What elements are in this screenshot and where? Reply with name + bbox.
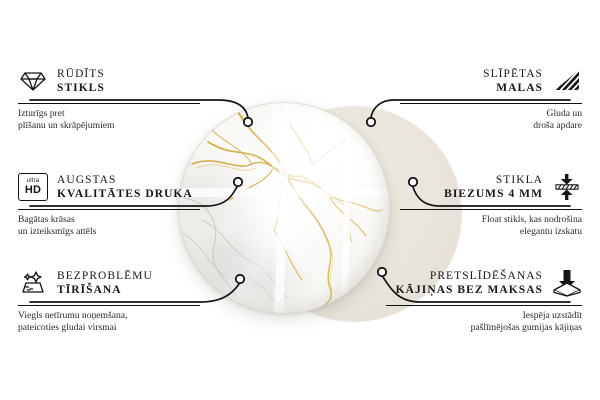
feature-titles: BEZPROBLĒMU TĪRĪŠANA (57, 269, 153, 297)
feature-header: ultra HD AUGSTAS KVALITĀTES DRUKA (18, 168, 200, 206)
feature-description: Bagātas krāsas un izteiksmīgs attēls (18, 214, 200, 239)
feature-callout-glass-thickness: STIKLA BIEZUMS 4 MM Float stikls, kas no… (400, 168, 582, 239)
feature-description: Izturīgs pret plīšanu un skrāpējumiem (18, 108, 200, 133)
feature-title-line1: SLĪPĒTAS (483, 67, 543, 81)
ultra-hd-icon-main-label: HD (25, 185, 41, 196)
feature-divider (18, 103, 200, 104)
infographic-canvas: RŪDĪTS STIKLS Izturīgs pret plīšanu un s… (0, 0, 600, 400)
feature-titles: RŪDĪTS STIKLS (57, 67, 105, 95)
feature-title-line2: MALAS (483, 81, 543, 95)
feature-title-line1: AUGSTAS (57, 173, 193, 187)
feature-header: BEZPROBLĒMU TĪRĪŠANA (18, 264, 200, 302)
feature-callout-anti-slip-feet: PRETSLĪDĒŠANAS KĀJIŅAS BEZ MAKSAS Iespēj… (386, 264, 582, 335)
feature-title-line1: STIKLA (444, 173, 543, 187)
beveled-edge-icon (552, 66, 582, 96)
feature-header: RŪDĪTS STIKLS (18, 62, 200, 100)
feature-title-line2: TĪRĪŠANA (57, 283, 153, 297)
feature-title-line2: KVALITĀTES DRUKA (57, 187, 193, 201)
feature-divider (400, 209, 582, 210)
feature-title-line1: RŪDĪTS (57, 67, 105, 81)
round-glass-panel (178, 102, 390, 314)
feature-titles: STIKLA BIEZUMS 4 MM (444, 173, 543, 201)
feature-callout-polished-edges: SLĪPĒTAS MALAS Gluda un droša apdare (400, 62, 582, 133)
feature-title-line2: STIKLS (57, 81, 105, 95)
ultra-hd-icon: ultra HD (18, 172, 48, 202)
feature-divider (386, 305, 582, 306)
feature-header: SLĪPĒTAS MALAS (400, 62, 582, 100)
feature-callout-easy-cleaning: BEZPROBLĒMU TĪRĪŠANA Viegls netīrumu noņ… (18, 264, 200, 335)
feature-callout-tempered-glass: RŪDĪTS STIKLS Izturīgs pret plīšanu un s… (18, 62, 200, 133)
feature-description: Gluda un droša apdare (400, 108, 582, 133)
press-down-pad-icon (552, 268, 582, 298)
feature-title-line1: PRETSLĪDĒŠANAS (396, 269, 543, 283)
feature-description: Viegls netīrumu noņemšana, pateicoties g… (18, 310, 200, 335)
feature-titles: SLĪPĒTAS MALAS (483, 67, 543, 95)
gold-veining (178, 102, 390, 314)
feature-divider (18, 305, 200, 306)
feature-divider (400, 103, 582, 104)
feature-description: Float stikls, kas nodrošina elegantu izs… (400, 214, 582, 239)
feature-header: STIKLA BIEZUMS 4 MM (400, 168, 582, 206)
feature-description: Iespēja uzstādīt pašlīmējošas gumijas kā… (386, 310, 582, 335)
sponge-sparkle-icon (18, 268, 48, 298)
feature-callout-high-quality-print: ultra HD AUGSTAS KVALITĀTES DRUKA Bagāta… (18, 168, 200, 239)
feature-titles: PRETSLĪDĒŠANAS KĀJIŅAS BEZ MAKSAS (396, 269, 543, 297)
feature-titles: AUGSTAS KVALITĀTES DRUKA (57, 173, 193, 201)
feature-title-line2: KĀJIŅAS BEZ MAKSAS (396, 283, 543, 297)
feature-header: PRETSLĪDĒŠANAS KĀJIŅAS BEZ MAKSAS (386, 264, 582, 302)
feature-title-line1: BEZPROBLĒMU (57, 269, 153, 283)
diamond-icon (18, 66, 48, 96)
feature-title-line2: BIEZUMS 4 MM (444, 187, 543, 201)
thickness-arrows-icon (552, 172, 582, 202)
feature-divider (18, 209, 200, 210)
